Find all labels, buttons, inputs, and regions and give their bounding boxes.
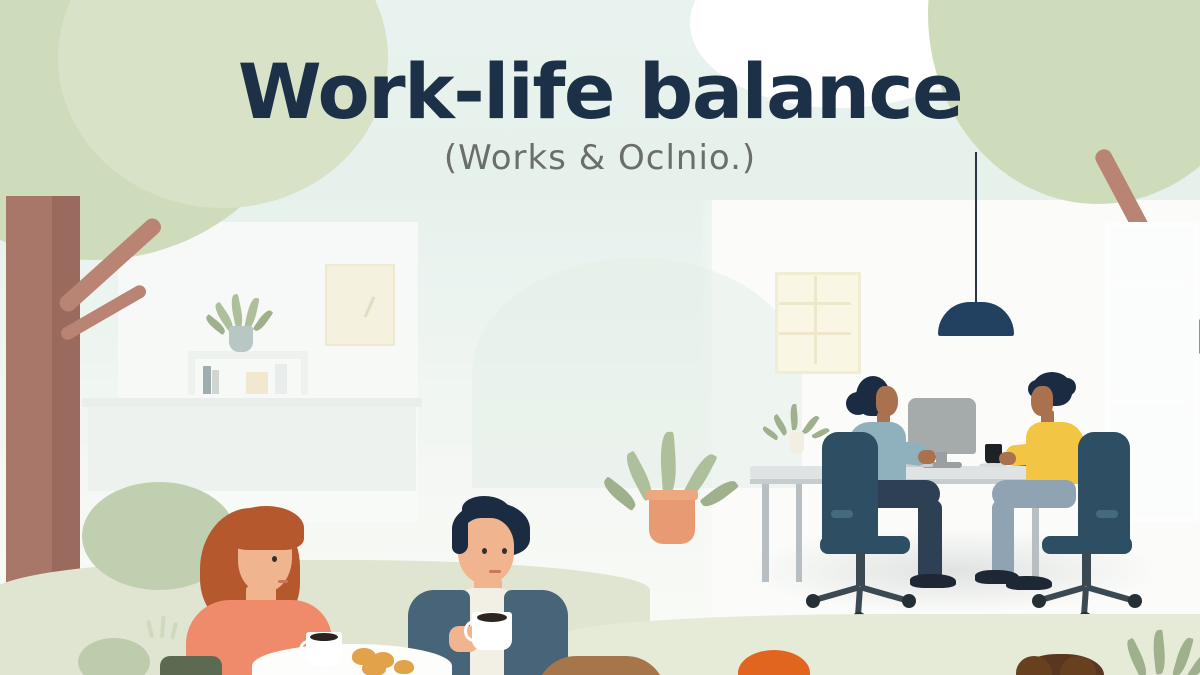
- office-chair-left-post: [856, 552, 865, 586]
- wall-shelf-side-right: [301, 351, 308, 395]
- office-desk-leg-left: [762, 484, 769, 582]
- shelf-book: [203, 366, 211, 394]
- office-worker-left-shoe: [910, 574, 956, 588]
- picnic-man-mug-handle: [464, 620, 484, 642]
- office-window-mullion-top: [1105, 280, 1189, 286]
- office-chair-left-caster: [902, 594, 916, 608]
- shelf-book: [212, 370, 219, 394]
- wall-shelf-side-left: [188, 351, 195, 395]
- office-chair-left-seat: [820, 536, 910, 554]
- dome-hill: [472, 258, 802, 488]
- pendant-lamp-cord: [975, 152, 977, 304]
- picnic-woman-mug-handle: [299, 640, 318, 660]
- wall-shelf: [188, 351, 308, 359]
- foreground-pot-dark: [160, 656, 222, 675]
- office-worker-left-shin: [918, 500, 942, 582]
- picnic-woman-hair-front: [228, 506, 304, 550]
- picnic-woman-eye: [272, 556, 277, 562]
- picnic-pastry: [362, 660, 386, 675]
- office-worker-right-shin: [992, 500, 1014, 578]
- office-plant-pot: [790, 432, 804, 454]
- picnic-man-mug-coffee: [477, 613, 507, 622]
- office-worker-right-shoe: [1006, 576, 1052, 590]
- wall-art-grid: [775, 272, 861, 374]
- office-window-mullion-bottom: [1105, 398, 1189, 404]
- shelf-book: [275, 364, 287, 394]
- office-chair-right-caster: [1128, 594, 1142, 608]
- office-worker-right-hair-curl: [1058, 378, 1076, 396]
- office-chair-left-back: [822, 432, 878, 548]
- wall-art-grid-line-v: [814, 276, 817, 364]
- office-chair-left-lumbar: [831, 510, 853, 518]
- office-chair-right-lumbar: [1096, 510, 1118, 518]
- office-chair-right-back: [1078, 432, 1130, 550]
- counter-ledge: [82, 398, 422, 407]
- wall-art-grid-line-h2: [779, 332, 851, 335]
- shelf-book: [246, 372, 268, 394]
- office-chair-right-caster: [1032, 594, 1046, 608]
- picnic-woman-mouth: [278, 580, 288, 583]
- floor-plant-pot-rim: [646, 490, 698, 500]
- wall-picture-frame-left: [325, 264, 395, 346]
- picnic-man-mouth: [489, 570, 501, 573]
- office-worker-right-hand: [999, 452, 1016, 465]
- office-worker-left-hand: [918, 450, 936, 464]
- outdoor-ground-strip: [560, 614, 1200, 675]
- picnic-pastry: [394, 660, 414, 674]
- picnic-man-eye: [502, 548, 507, 554]
- picnic-woman-mug-coffee: [310, 633, 338, 641]
- office-chair-left-caster: [806, 594, 820, 608]
- shelf-plant-pot: [229, 326, 253, 352]
- wall-art-grid-line-h1: [779, 302, 851, 305]
- picnic-man-sideburn: [452, 522, 468, 554]
- counter-body: [88, 407, 416, 491]
- tree-canopy-right: [928, 0, 1200, 204]
- office-chair-right-post: [1082, 552, 1091, 586]
- office-desk-leg-mid: [796, 484, 802, 582]
- office-worker-left-hair-bun: [846, 392, 870, 415]
- illustration-canvas: Work-life balance (Works & Oclnio.): [0, 0, 1200, 675]
- picnic-man-eye: [482, 548, 487, 554]
